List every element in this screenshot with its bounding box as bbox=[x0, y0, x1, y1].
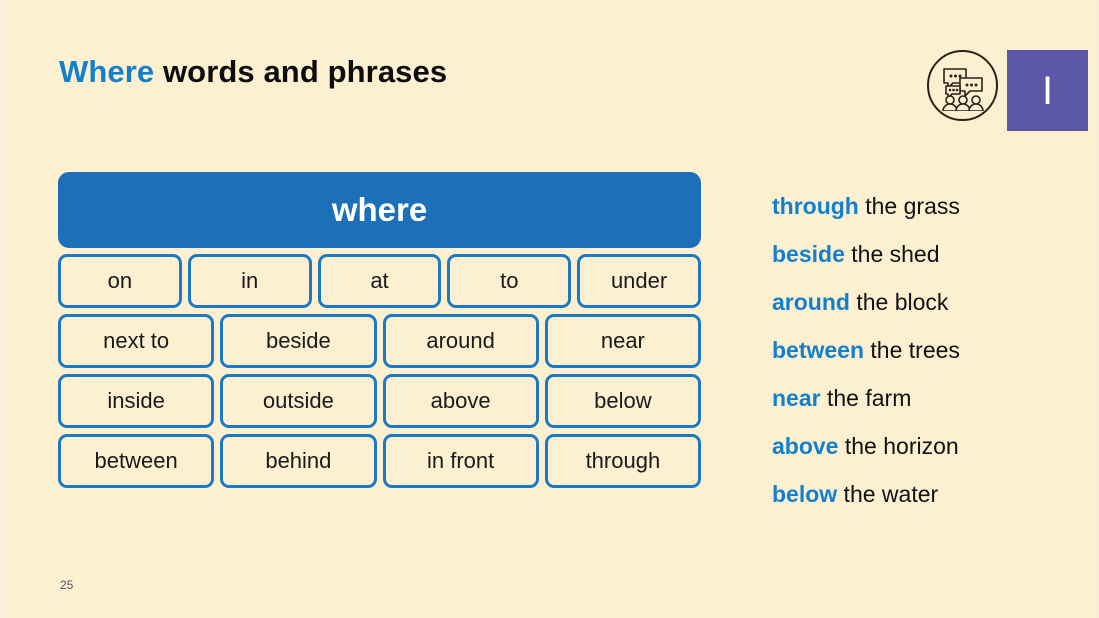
word-box[interactable]: above bbox=[383, 374, 539, 428]
word-box[interactable]: under bbox=[577, 254, 701, 308]
phrase-item: around the block bbox=[772, 278, 1082, 326]
phrase-rest: the grass bbox=[859, 193, 960, 219]
phrase-item: beside the shed bbox=[772, 230, 1082, 278]
word-row: oninattounder bbox=[58, 254, 701, 308]
word-box[interactable]: next to bbox=[58, 314, 214, 368]
word-row: insideoutsideabovebelow bbox=[58, 374, 701, 428]
word-box[interactable]: behind bbox=[220, 434, 376, 488]
word-box[interactable]: outside bbox=[220, 374, 376, 428]
word-box[interactable]: between bbox=[58, 434, 214, 488]
phrase-rest: the water bbox=[837, 481, 938, 507]
word-box[interactable]: near bbox=[545, 314, 701, 368]
phrase-preposition: between bbox=[772, 337, 864, 363]
word-row: betweenbehindin frontthrough bbox=[58, 434, 701, 488]
phrase-item: above the horizon bbox=[772, 422, 1082, 470]
phrase-item: through the grass bbox=[772, 182, 1082, 230]
word-box[interactable]: in bbox=[188, 254, 312, 308]
chart-header-label: where bbox=[332, 191, 427, 229]
word-row: next tobesidearoundnear bbox=[58, 314, 701, 368]
page-number: 25 bbox=[60, 578, 73, 592]
word-box[interactable]: to bbox=[447, 254, 571, 308]
phrase-list: through the grassbeside the shedaround t… bbox=[772, 182, 1082, 518]
phrase-preposition: beside bbox=[772, 241, 845, 267]
phrase-preposition: around bbox=[772, 289, 850, 315]
word-box[interactable]: inside bbox=[58, 374, 214, 428]
word-box[interactable]: through bbox=[545, 434, 701, 488]
where-word-chart: where oninattoundernext tobesidearoundne… bbox=[58, 172, 701, 494]
phrase-preposition: below bbox=[772, 481, 837, 507]
word-box[interactable]: at bbox=[318, 254, 442, 308]
badge-cluster: I bbox=[927, 50, 1088, 131]
chart-header: where bbox=[58, 172, 701, 248]
phrase-rest: the shed bbox=[845, 241, 940, 267]
word-box[interactable]: on bbox=[58, 254, 182, 308]
phrase-rest: the horizon bbox=[838, 433, 958, 459]
phrase-preposition: through bbox=[772, 193, 859, 219]
word-box[interactable]: below bbox=[545, 374, 701, 428]
phrase-rest: the trees bbox=[864, 337, 960, 363]
phrase-rest: the farm bbox=[821, 385, 912, 411]
word-box[interactable]: in front bbox=[383, 434, 539, 488]
phrase-preposition: near bbox=[772, 385, 821, 411]
section-letter: I bbox=[1042, 71, 1053, 111]
title-rest: words and phrases bbox=[154, 54, 447, 89]
discussion-group-icon bbox=[927, 50, 998, 121]
phrase-rest: the block bbox=[850, 289, 948, 315]
word-box[interactable]: around bbox=[383, 314, 539, 368]
page-title: Where words and phrases bbox=[59, 54, 447, 90]
word-box[interactable]: beside bbox=[220, 314, 376, 368]
phrase-item: near the farm bbox=[772, 374, 1082, 422]
section-letter-badge: I bbox=[1007, 50, 1088, 131]
phrase-preposition: above bbox=[772, 433, 838, 459]
title-keyword: Where bbox=[59, 54, 154, 89]
slide-canvas: Where words and phrases bbox=[0, 0, 1099, 618]
phrase-item: between the trees bbox=[772, 326, 1082, 374]
phrase-item: below the water bbox=[772, 470, 1082, 518]
